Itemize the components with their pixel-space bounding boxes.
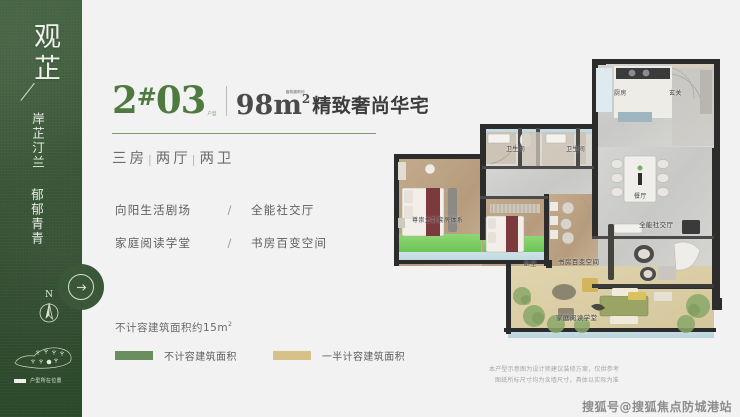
- site-map-legend: 户型所在位置: [14, 377, 62, 384]
- room-label-dining: 餐厅: [634, 191, 647, 200]
- brand-subtitle-1: 岸芷汀兰: [29, 112, 46, 170]
- unit-code: 03: [156, 78, 206, 122]
- site-map-legend-swatch: [14, 379, 26, 383]
- floor-plan: 厨房 玄关 卫生间 卫生间 餐厅 全能社交厅 尊崇主卧套房体系 卧室 书房百变空…: [386, 28, 726, 363]
- feature-row: 家庭阅读学堂 / 书房百变空间: [115, 235, 327, 251]
- excluded-area-superscript: 2: [228, 321, 232, 328]
- feature-separator: /: [209, 203, 251, 217]
- legend-item: 不计容建筑面积: [115, 348, 237, 363]
- legend-label: 不计容建筑面积: [164, 348, 237, 363]
- room-count-summary: 三房|两厅|两卫: [112, 147, 234, 168]
- room-count-baths: 两卫: [199, 151, 234, 167]
- unit-area: 98m2建筑面积约: [236, 92, 311, 119]
- room-label-kitchen: 厨房: [614, 88, 627, 97]
- heading-divider: [226, 86, 227, 116]
- unit-area-note: 建筑面积约: [286, 91, 305, 95]
- unit-heading: 2#03 户型 98m2建筑面积约 精致奢尚华宅: [112, 82, 429, 119]
- disclaimer-line-1: 本产型示意图为设计师建议装修方案，仅供参考: [489, 365, 619, 376]
- unit-hash: #: [137, 82, 156, 111]
- legend-swatch-green: [115, 351, 153, 360]
- heading-rule: [112, 133, 376, 134]
- brand-side-panel: 观芷 岸芷汀兰 郁郁青青 N: [0, 0, 82, 417]
- room-label-social-hall: 全能社交厅: [639, 219, 674, 229]
- room-label-entry: 玄关: [669, 88, 682, 97]
- unit-number: 2#03: [112, 82, 205, 119]
- feature-right: 全能社交厅: [251, 202, 315, 218]
- room-label-master-suite: 尊崇主卧套房体系: [412, 215, 463, 224]
- excluded-area-text: 不计容建筑面积约15m: [115, 322, 228, 334]
- room-label-reading-terrace: 家庭阅读学堂: [556, 312, 597, 322]
- disclaimer: 本产型示意图为设计师建议装修方案，仅供参考 图纸所标尺寸均为含墙尺寸，具体以实际…: [489, 365, 619, 386]
- feature-row: 向阳生活剧场 / 全能社交厅: [115, 202, 327, 218]
- room-label-bathroom-2: 卫生间: [566, 144, 585, 153]
- room-count-bedrooms: 三房: [112, 151, 147, 167]
- room-label-bedroom: 卧室: [524, 259, 537, 268]
- feature-separator: /: [209, 236, 251, 250]
- feature-left: 向阳生活剧场: [115, 202, 209, 218]
- arrow-right-circle-icon[interactable]: [68, 274, 94, 300]
- compass-rose: N: [36, 290, 62, 324]
- room-label-study: 书房百变空间: [558, 256, 599, 266]
- unit-type-superscript: 户型: [207, 111, 216, 116]
- site-map-legend-label: 户型所在位置: [30, 377, 62, 384]
- feature-right: 书房百变空间: [251, 235, 327, 251]
- brand-subtitle-2: 郁郁青青: [28, 188, 45, 246]
- floorplan-brochure-page: 观芷 岸芷汀兰 郁郁青青 N: [0, 0, 740, 417]
- unit-area-value: 98m: [236, 90, 302, 121]
- disclaimer-line-2: 图纸所标尺寸均为含墙尺寸，具体以实际为准: [489, 376, 619, 387]
- excluded-area-note: 不计容建筑面积约15m2: [115, 320, 232, 335]
- watermark: 搜狐号@搜狐焦点防城港站: [582, 398, 732, 415]
- legend-swatch-tan: [273, 351, 311, 360]
- feature-left: 家庭阅读学堂: [115, 235, 209, 251]
- room-sep-1: |: [147, 153, 156, 166]
- area-legend: 不计容建筑面积 一半计容建筑面积: [115, 348, 405, 363]
- site-map-illustration: [12, 338, 76, 372]
- room-label-bathroom-1: 卫生间: [506, 144, 525, 153]
- feature-list: 向阳生活剧场 / 全能社交厅 家庭阅读学堂 / 书房百变空间: [115, 202, 327, 268]
- room-count-living: 两厅: [156, 151, 191, 167]
- unit-number-value: 2: [112, 78, 137, 122]
- brand-title: 观芷: [16, 22, 62, 86]
